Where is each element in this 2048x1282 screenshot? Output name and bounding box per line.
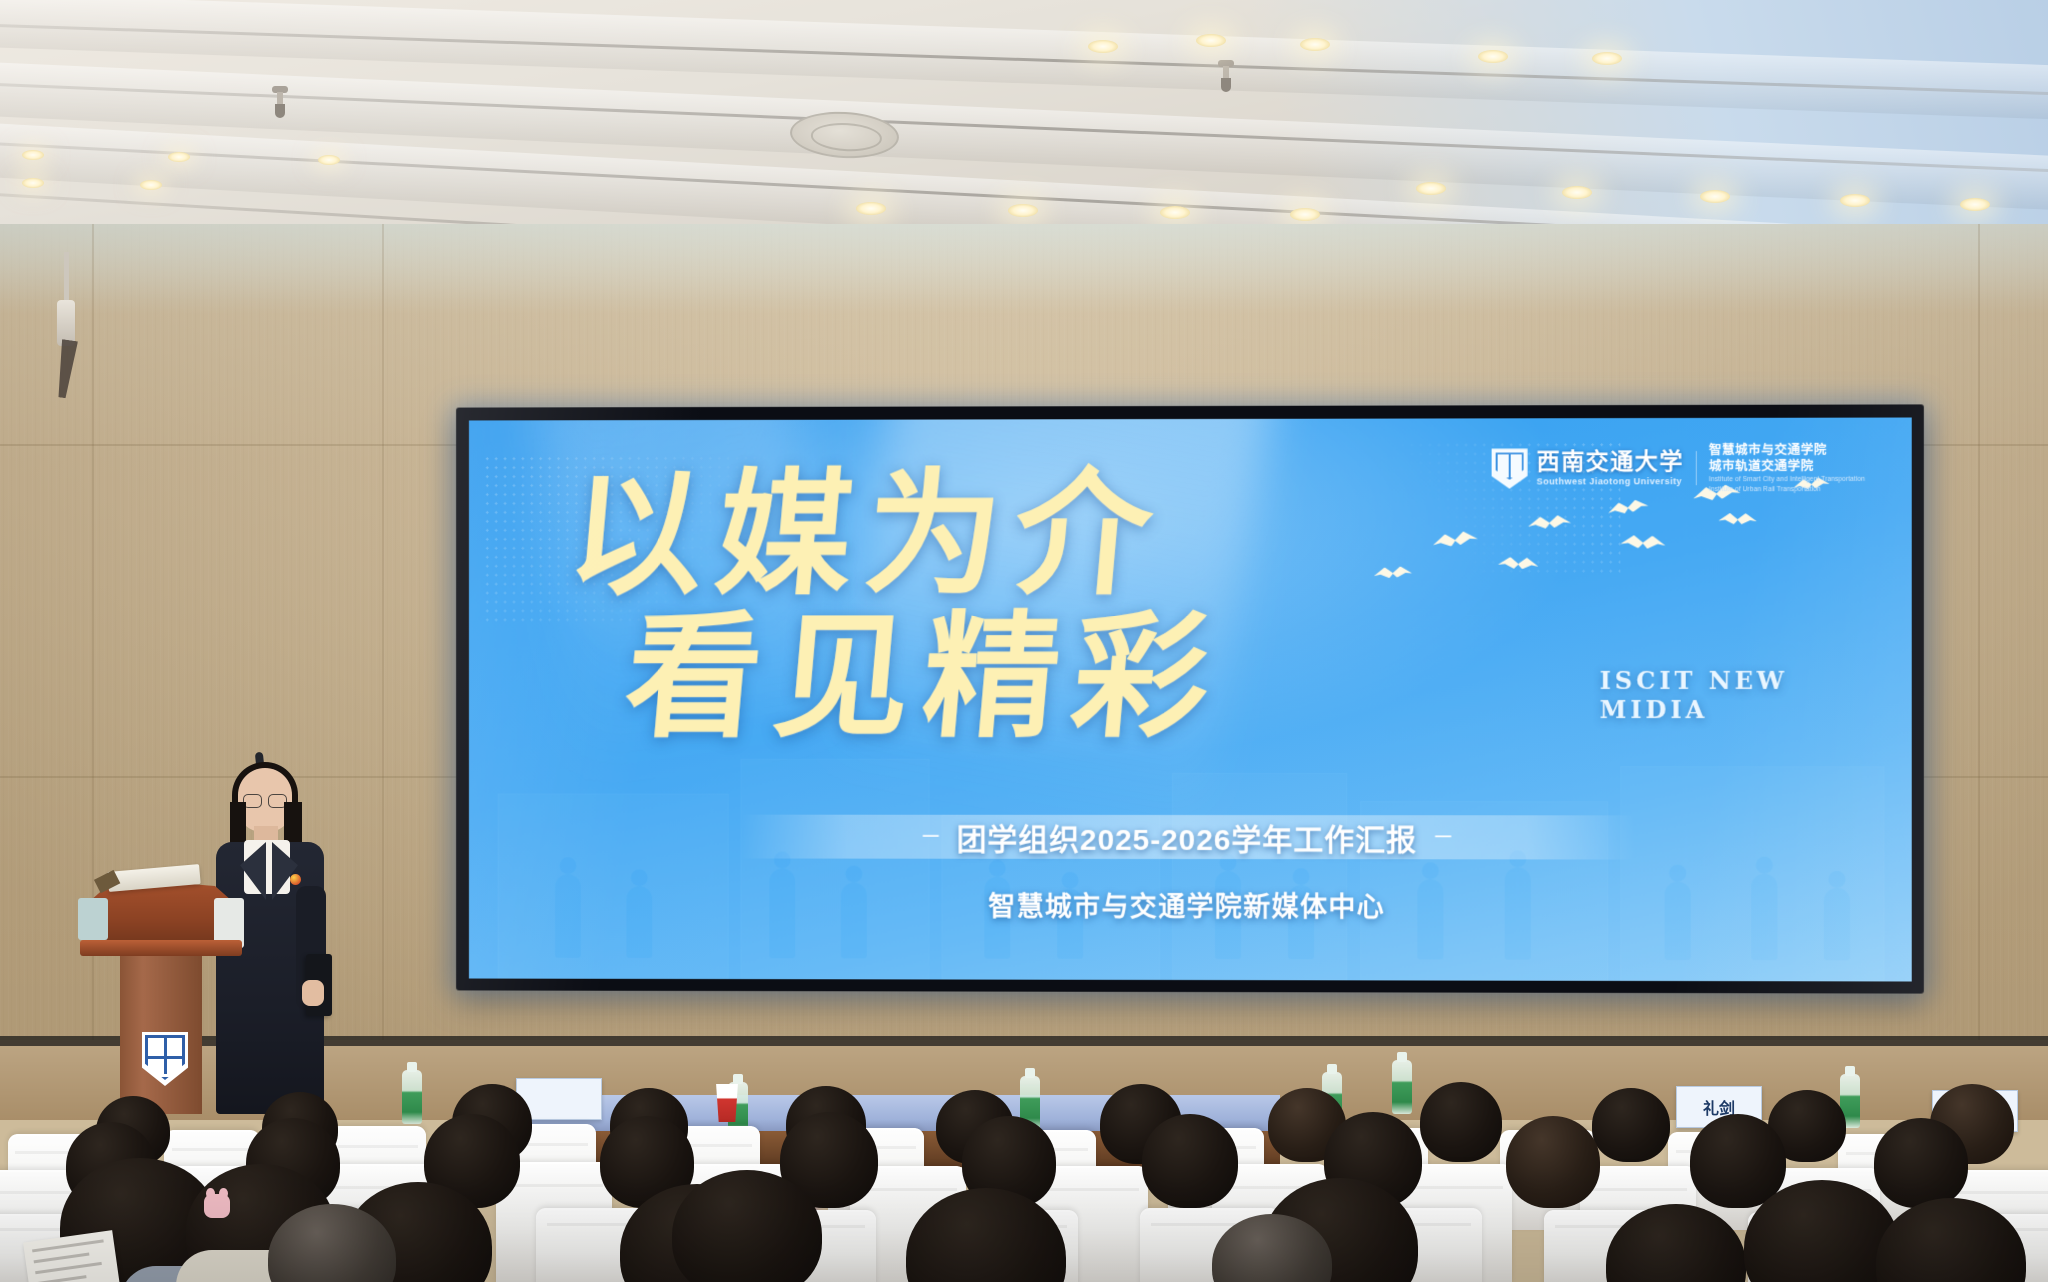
subtitle-ribbon: — 团学组织2025-2026学年工作汇报 — xyxy=(741,814,1636,859)
audience-seating xyxy=(0,1018,2048,1282)
presentation-title: 以媒为介 看见精彩 xyxy=(569,469,1519,743)
bird-icon xyxy=(1607,498,1650,517)
ceiling-downlight xyxy=(1700,190,1730,203)
ceiling-downlight xyxy=(1300,38,1330,51)
audience-head xyxy=(1506,1116,1600,1208)
ceiling-downlight xyxy=(318,155,340,165)
audience-head xyxy=(1690,1114,1786,1208)
sprinkler-head xyxy=(272,86,288,120)
sprinkler-head xyxy=(1218,60,1234,94)
department-name-cn-2: 城市轨道交通学院 xyxy=(1709,457,1865,473)
ceiling-downlight xyxy=(856,202,886,215)
audience-head xyxy=(1874,1118,1968,1208)
organization-line: 智慧城市与交通学院新媒体中心 xyxy=(988,884,1385,924)
presenter-hand xyxy=(302,980,324,1006)
ceiling-downlight xyxy=(1290,208,1320,221)
ceiling xyxy=(0,0,2048,230)
department-name-en-1: Institute of Smart City and Intelligent … xyxy=(1709,475,1865,484)
eyeglasses-icon xyxy=(243,794,287,806)
audience-head xyxy=(1592,1088,1670,1162)
hair-clip-icon xyxy=(204,1194,230,1218)
bird-icon xyxy=(1527,514,1572,530)
department-name-block: 智慧城市与交通学院 城市轨道交通学院 Institute of Smart Ci… xyxy=(1709,441,1865,495)
university-name-en: Southwest Jiaotong University xyxy=(1537,476,1684,486)
bird-icon xyxy=(1621,535,1668,550)
ceiling-mounted-fixture xyxy=(56,252,78,402)
ceiling-vent xyxy=(789,109,900,161)
ceiling-downlight xyxy=(22,178,44,188)
audience-head xyxy=(1142,1114,1238,1208)
ceiling-downlight xyxy=(1960,198,1990,211)
ceiling-blue-glow xyxy=(1168,0,2048,230)
ceiling-downlight xyxy=(168,152,190,162)
bird-icon xyxy=(1718,513,1758,525)
audience-head xyxy=(1420,1082,1502,1162)
english-subtitle: ISCIT NEW MIDIA xyxy=(1600,666,1788,725)
title-line-2: 看见精彩 xyxy=(621,612,1525,743)
ceiling-downlight xyxy=(1008,204,1038,217)
ceiling-downlight xyxy=(1840,194,1870,207)
ceiling-downlight xyxy=(1088,40,1118,53)
ceiling-downlight xyxy=(1562,186,1592,199)
department-name-en-2: Institute of Urban Rail Transportation xyxy=(1709,486,1865,495)
ceiling-downlight xyxy=(22,150,44,160)
ribbon-dash-right: — xyxy=(1435,828,1451,846)
ceiling-downlight xyxy=(140,180,162,190)
english-subtitle-line-2: MIDIA xyxy=(1600,695,1788,724)
podium-pad-left xyxy=(78,898,108,940)
university-logo-lockup: 西南交通大学 Southwest Jiaotong University 智慧城… xyxy=(1491,441,1865,495)
university-name-block: 西南交通大学 Southwest Jiaotong University xyxy=(1537,450,1684,486)
logo-divider xyxy=(1696,451,1697,485)
ceiling-downlight xyxy=(1592,52,1622,65)
ceiling-downlight xyxy=(1478,50,1508,63)
ceiling-downlight xyxy=(1160,206,1190,219)
ceiling-downlight xyxy=(1416,182,1446,195)
ceiling-downlight xyxy=(1196,34,1226,47)
university-name-cn: 西南交通大学 xyxy=(1537,450,1684,473)
ribbon-text: 团学组织2025-2026学年工作汇报 xyxy=(957,814,1417,858)
screen-surface: 西南交通大学 Southwest Jiaotong University 智慧城… xyxy=(469,417,1912,981)
lapel-pin-icon xyxy=(290,874,301,885)
auditorium-scene: 西南交通大学 Southwest Jiaotong University 智慧城… xyxy=(0,0,2048,1282)
title-line-1: 以媒为介 xyxy=(563,469,1525,601)
ribbon-dash-left: — xyxy=(923,827,939,845)
led-presentation-screen: 西南交通大学 Southwest Jiaotong University 智慧城… xyxy=(456,404,1924,993)
podium-lip xyxy=(80,940,242,956)
english-subtitle-line-1: ISCIT NEW xyxy=(1600,666,1788,695)
department-name-cn-1: 智慧城市与交通学院 xyxy=(1709,441,1865,457)
